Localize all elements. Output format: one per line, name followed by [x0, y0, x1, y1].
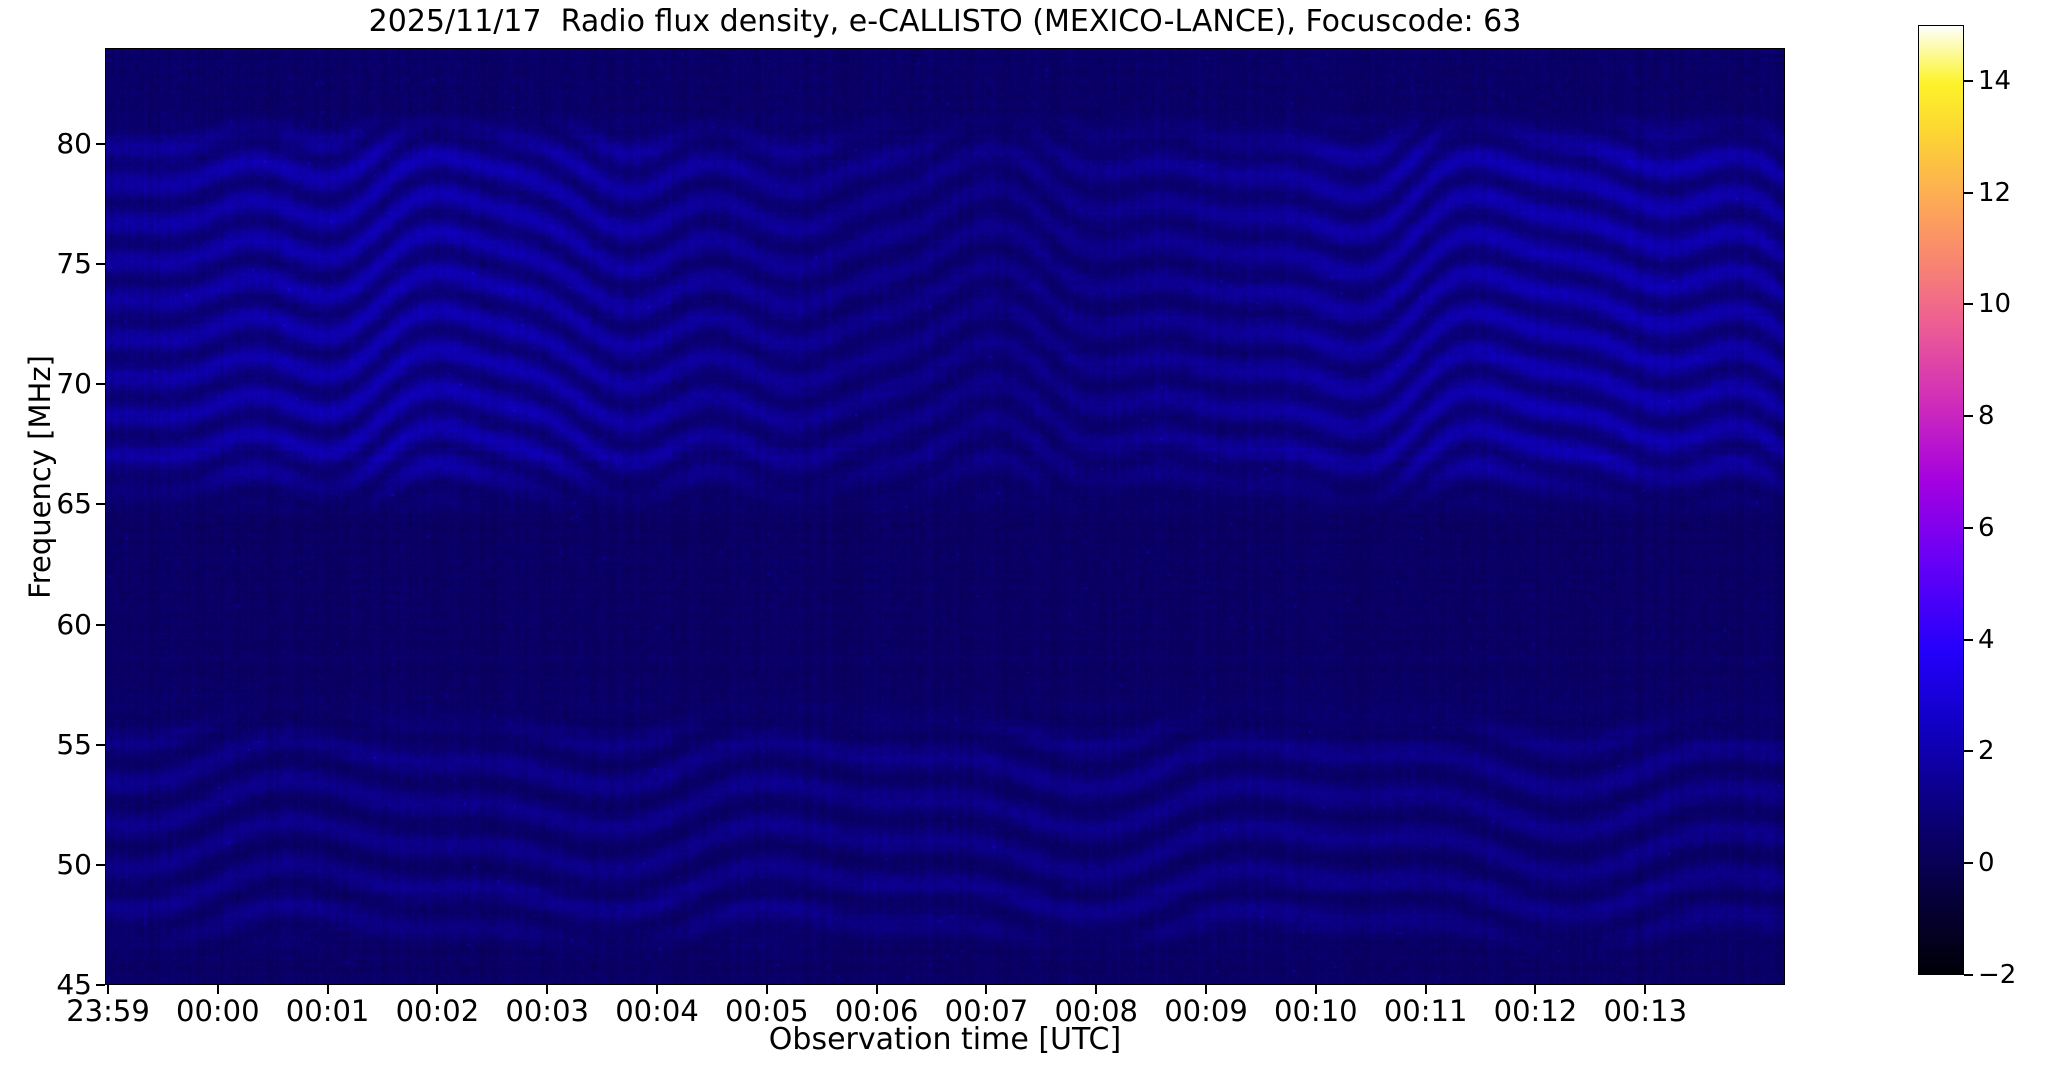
colorbar-tick-label: 0 — [1978, 845, 1995, 881]
y-tick-label: 65 — [56, 486, 92, 522]
colorbar-tick-mark — [1964, 527, 1973, 529]
colorbar-tick-mark — [1964, 80, 1973, 82]
colorbar-axis: −202468101214 — [1964, 25, 2044, 975]
y-tick-label: 50 — [56, 847, 92, 883]
colorbar-tick-label: 12 — [1978, 175, 2011, 211]
colorbar-tick-label: 6 — [1978, 510, 1995, 546]
y-tick-mark — [96, 744, 105, 746]
spectrogram-image — [106, 49, 1784, 984]
y-tick-label: 70 — [56, 366, 92, 402]
colorbar-tick-mark — [1964, 862, 1973, 864]
x-axis-label: Observation time [UTC] — [105, 1022, 1785, 1057]
y-tick-label: 75 — [56, 246, 92, 282]
y-tick-mark — [96, 383, 105, 385]
y-tick-mark — [96, 864, 105, 866]
colorbar-tick-label: 4 — [1978, 622, 1995, 658]
spectrogram-plot[interactable] — [105, 48, 1785, 985]
colorbar-tick-label: 14 — [1978, 63, 2011, 99]
y-tick-mark — [96, 984, 105, 986]
colorbar — [1918, 25, 1964, 975]
y-tick-label: 55 — [56, 727, 92, 763]
y-tick-label: 60 — [56, 607, 92, 643]
y-tick-mark — [96, 143, 105, 145]
colorbar-tick-label: −2 — [1978, 957, 2016, 993]
y-axis-label: Frequency [MHz] — [23, 267, 57, 687]
y-tick-mark — [96, 263, 105, 265]
colorbar-tick-mark — [1964, 639, 1973, 641]
colorbar-tick-mark — [1964, 750, 1973, 752]
colorbar-gradient — [1918, 25, 1964, 975]
page-title: 2025/11/17 Radio flux density, e-CALLIST… — [105, 4, 1785, 40]
colorbar-tick-label: 2 — [1978, 733, 1995, 769]
y-tick-label: 80 — [56, 126, 92, 162]
spectrogram-figure: 2025/11/17 Radio flux density, e-CALLIST… — [0, 0, 2047, 1067]
y-tick-mark — [96, 624, 105, 626]
colorbar-tick-mark — [1964, 415, 1973, 417]
colorbar-tick-label: 10 — [1978, 286, 2011, 322]
y-tick-mark — [96, 503, 105, 505]
colorbar-tick-mark — [1964, 974, 1973, 976]
colorbar-tick-mark — [1964, 192, 1973, 194]
colorbar-tick-label: 8 — [1978, 398, 1995, 434]
colorbar-tick-mark — [1964, 303, 1973, 305]
